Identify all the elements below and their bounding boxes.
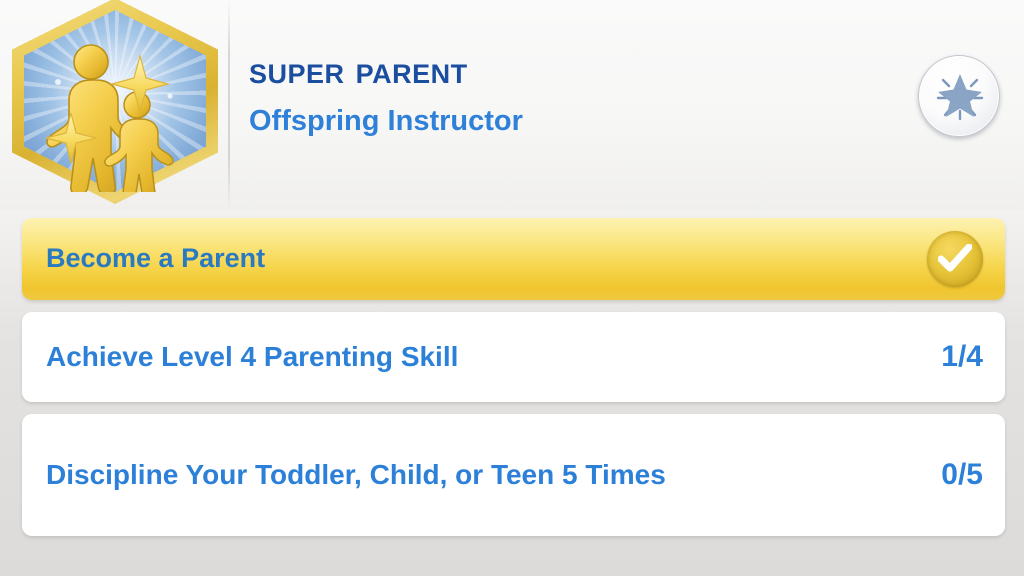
aspiration-title: Super Parent <box>249 52 889 90</box>
objective-progress-count: 0/5 <box>941 458 983 492</box>
aspiration-subtitle: Offspring Instructor <box>249 106 889 136</box>
aspiration-panel: Super Parent Offspring Instructor <box>0 0 1024 576</box>
aspiration-badge-icon <box>12 0 218 204</box>
objective-complete-badge <box>927 231 983 287</box>
objective-label: Achieve Level 4 Parenting Skill <box>46 337 941 378</box>
objective-label: Discipline Your Toddler, Child, or Teen … <box>46 455 941 496</box>
objective-row-parenting-skill[interactable]: Achieve Level 4 Parenting Skill 1/4 <box>22 312 1005 402</box>
aspiration-reward-button[interactable] <box>918 55 1000 137</box>
sparkle-large <box>112 56 168 112</box>
objective-row-discipline[interactable]: Discipline Your Toddler, Child, or Teen … <box>22 414 1005 536</box>
objective-progress-count: 1/4 <box>941 340 983 374</box>
header-divider <box>228 0 230 210</box>
parent-and-child-figures-icon <box>24 10 206 192</box>
objective-label: Become a Parent <box>46 239 927 278</box>
check-icon <box>938 244 972 274</box>
objectives-list: Become a Parent Achieve Level 4 Parentin… <box>22 218 1005 548</box>
sparkle-star-icon <box>930 67 990 127</box>
title-block: Super Parent Offspring Instructor <box>249 52 889 136</box>
objective-row-completed[interactable]: Become a Parent <box>22 218 1005 300</box>
aspiration-header: Super Parent Offspring Instructor <box>0 0 1024 210</box>
